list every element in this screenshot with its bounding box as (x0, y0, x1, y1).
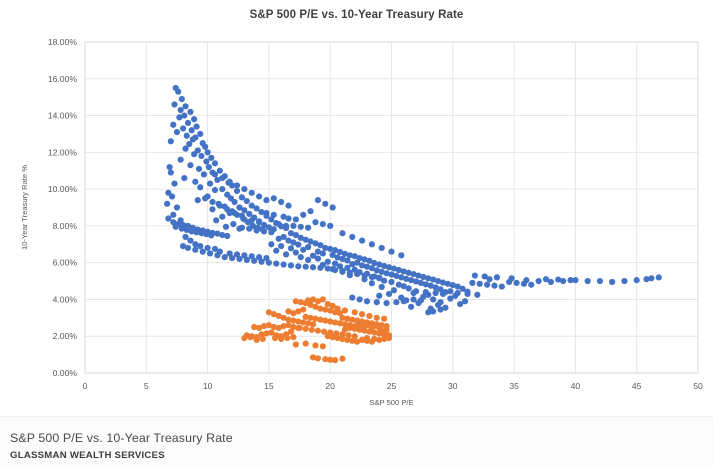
data-point (528, 282, 534, 288)
data-point (241, 186, 247, 192)
data-point (315, 328, 321, 334)
data-point (209, 206, 215, 212)
data-point (298, 224, 304, 230)
data-point (648, 275, 654, 281)
y-tick-label: 4.00% (53, 294, 78, 304)
data-point (185, 120, 191, 126)
data-point (223, 224, 229, 230)
data-point (165, 215, 171, 221)
data-point (408, 304, 414, 310)
data-point (222, 254, 228, 260)
data-point (536, 278, 542, 284)
data-point (179, 96, 185, 102)
data-point (195, 197, 201, 203)
data-point (366, 313, 372, 319)
data-point (499, 283, 505, 289)
data-point (379, 245, 385, 251)
data-point (332, 267, 338, 273)
data-point (359, 311, 365, 317)
data-point (254, 227, 260, 233)
data-point (187, 238, 193, 244)
data-point (494, 274, 500, 280)
data-point (202, 144, 208, 150)
data-point (303, 326, 309, 332)
data-point (246, 226, 252, 232)
data-point (406, 285, 412, 291)
data-point (230, 221, 236, 227)
data-point (388, 279, 394, 285)
x-tick-label: 35 (509, 381, 519, 391)
data-point (197, 131, 203, 137)
data-point (295, 242, 301, 248)
data-point (349, 234, 355, 240)
data-point (209, 199, 215, 205)
data-point (217, 168, 223, 174)
data-point (202, 195, 208, 201)
x-tick-label: 5 (144, 381, 149, 391)
data-point (384, 300, 390, 306)
x-tick-label: 20 (325, 381, 335, 391)
x-tick-label: 30 (448, 381, 458, 391)
data-point (298, 254, 304, 260)
data-point (374, 299, 380, 305)
caption-source: GLASSMAN WEALTH SERVICES (10, 450, 165, 461)
data-point (361, 272, 367, 278)
data-point (376, 275, 382, 281)
y-tick-label: 12.00% (48, 147, 78, 157)
data-point (303, 264, 309, 270)
data-point (293, 249, 299, 255)
data-point (171, 101, 177, 107)
data-point (212, 160, 218, 166)
data-point (239, 213, 245, 219)
data-point (263, 255, 269, 261)
y-tick-label: 14.00% (48, 111, 78, 121)
data-point (656, 274, 662, 280)
data-point (369, 274, 375, 280)
data-point (276, 221, 282, 227)
data-point (193, 123, 199, 129)
data-point (285, 215, 291, 221)
data-point (320, 343, 326, 349)
data-point (523, 277, 529, 283)
y-tick-label: 8.00% (53, 221, 78, 231)
data-point (178, 157, 184, 163)
data-point (359, 238, 365, 244)
data-point (205, 149, 211, 155)
data-point (168, 138, 174, 144)
data-point (418, 297, 424, 303)
data-point (369, 241, 375, 247)
data-point (168, 169, 174, 175)
data-point (244, 198, 250, 204)
data-point (386, 291, 392, 297)
data-point (206, 164, 212, 170)
data-point (203, 158, 209, 164)
data-point (212, 171, 218, 177)
data-point (384, 327, 390, 333)
data-point (256, 254, 262, 260)
data-point (180, 125, 186, 131)
data-point (283, 223, 289, 229)
data-point (170, 212, 176, 218)
data-point (169, 193, 175, 199)
data-point (260, 336, 266, 342)
scatter-plot: 0.00%2.00%4.00%6.00%8.00%10.00%12.00%14.… (0, 0, 713, 416)
data-point (410, 290, 416, 296)
data-point (256, 193, 262, 199)
data-point (437, 306, 443, 312)
data-point (234, 182, 240, 188)
data-point (430, 308, 436, 314)
data-point (205, 245, 211, 251)
data-point (305, 225, 311, 231)
data-point (219, 175, 225, 181)
data-point (369, 280, 375, 286)
data-point (349, 295, 355, 301)
data-point (455, 290, 461, 296)
data-point (464, 291, 470, 297)
data-point (263, 210, 269, 216)
data-point (369, 339, 375, 345)
data-point (182, 234, 188, 240)
data-point (320, 221, 326, 227)
data-point (182, 146, 188, 152)
x-tick-label: 40 (571, 381, 581, 391)
data-point (469, 280, 475, 286)
data-point (268, 229, 274, 235)
data-point (178, 107, 184, 113)
data-point (330, 303, 336, 309)
data-point (170, 122, 176, 128)
data-point (374, 315, 380, 321)
data-point (305, 297, 311, 303)
data-point (231, 199, 237, 205)
data-point (191, 151, 197, 157)
data-point (477, 281, 483, 287)
data-point (391, 287, 397, 293)
data-point (234, 251, 240, 257)
data-point (213, 217, 219, 223)
data-point (433, 290, 439, 296)
caption-title: S&P 500 P/E vs. 10-Year Treasury Rate (10, 431, 233, 445)
data-point (315, 197, 321, 203)
data-point (197, 184, 203, 190)
data-point (231, 210, 237, 216)
data-point (278, 336, 284, 342)
data-point (217, 203, 223, 209)
data-point (447, 288, 453, 294)
data-point (295, 325, 301, 331)
data-point (285, 308, 291, 314)
data-point (278, 243, 284, 249)
data-point (208, 232, 214, 238)
data-point (430, 296, 436, 302)
y-axis-title: 10-Year Treasury Rate % (20, 165, 29, 250)
data-point (376, 293, 382, 299)
data-point (276, 236, 282, 242)
x-axis-ticks: 05101520253035404550 (83, 381, 703, 391)
data-point (472, 272, 478, 278)
data-point (482, 273, 488, 279)
data-point (227, 250, 233, 256)
data-point (192, 247, 198, 253)
data-point (164, 201, 170, 207)
data-point (410, 296, 416, 302)
data-point (474, 292, 480, 298)
data-point (339, 269, 345, 275)
x-tick-label: 10 (203, 381, 213, 391)
data-point (513, 280, 519, 286)
data-point (330, 204, 336, 210)
data-point (284, 335, 290, 341)
data-point (201, 171, 207, 177)
y-tick-label: 0.00% (53, 368, 78, 378)
x-tick-label: 25 (387, 381, 397, 391)
data-point (364, 298, 370, 304)
data-point (621, 278, 627, 284)
data-point (339, 230, 345, 236)
data-point (171, 180, 177, 186)
caption-zone: S&P 500 P/E vs. 10-Year Treasury Rate GL… (0, 416, 713, 467)
data-point (207, 180, 213, 186)
data-point (212, 187, 218, 193)
data-point (344, 257, 350, 263)
figure-root: S&P 500 P/E vs. 10-Year Treasury Rate 0.… (0, 0, 713, 467)
data-point (312, 342, 318, 348)
data-point (189, 127, 195, 133)
data-point (423, 289, 429, 295)
data-point (303, 340, 309, 346)
data-point (285, 203, 291, 209)
data-point (241, 335, 247, 341)
data-point (585, 278, 591, 284)
data-point (317, 265, 323, 271)
data-point (173, 224, 179, 230)
y-tick-label: 2.00% (53, 331, 78, 341)
x-tick-label: 0 (83, 381, 88, 391)
data-point (261, 228, 267, 234)
data-point (268, 241, 274, 247)
data-point (312, 219, 318, 225)
data-point (320, 296, 326, 302)
data-point (310, 354, 316, 360)
data-point (354, 271, 360, 277)
y-tick-label: 10.00% (48, 184, 78, 194)
data-point (388, 249, 394, 255)
data-point (241, 252, 247, 258)
data-point (181, 175, 187, 181)
data-point (401, 298, 407, 304)
data-point (182, 103, 188, 109)
data-point (185, 245, 191, 251)
data-point (187, 162, 193, 168)
data-point (249, 253, 255, 259)
data-point (393, 299, 399, 305)
x-axis-title: S&P 500 P/E (369, 398, 413, 407)
data-point (256, 219, 262, 225)
data-point (320, 250, 326, 256)
data-point (349, 261, 355, 267)
data-point (184, 133, 190, 139)
data-point (634, 277, 640, 283)
data-point (187, 109, 193, 115)
data-point (197, 243, 203, 249)
data-point (234, 188, 240, 194)
data-point (174, 204, 180, 210)
data-point (207, 250, 213, 256)
x-tick-label: 15 (264, 381, 274, 391)
data-point (381, 316, 387, 322)
data-point (290, 223, 296, 229)
data-point (295, 263, 301, 269)
data-point (386, 335, 392, 341)
data-point (322, 201, 328, 207)
data-point (347, 270, 353, 276)
data-point (447, 295, 453, 301)
data-point (310, 264, 316, 270)
x-tick-label: 50 (693, 381, 703, 391)
data-point (278, 199, 284, 205)
data-point (288, 245, 294, 251)
data-point (307, 208, 313, 214)
data-point (543, 276, 549, 282)
data-point (379, 284, 385, 290)
data-point (227, 179, 233, 185)
data-point (224, 233, 230, 239)
data-point (191, 116, 197, 122)
data-point (300, 212, 306, 218)
data-point (198, 153, 204, 159)
data-point (254, 205, 260, 211)
data-point (309, 327, 315, 333)
data-point (327, 357, 333, 363)
data-point (219, 186, 225, 192)
data-point (254, 337, 260, 343)
data-point (484, 282, 490, 288)
data-point (175, 89, 181, 95)
data-point (241, 207, 247, 213)
data-point (166, 164, 172, 170)
data-point (325, 265, 331, 271)
data-point (281, 261, 287, 267)
y-tick-label: 16.00% (48, 74, 78, 84)
data-point (293, 216, 299, 222)
data-point (398, 252, 404, 258)
data-point (288, 262, 294, 268)
y-tick-label: 6.00% (53, 258, 78, 268)
data-point (208, 155, 214, 161)
data-point (609, 279, 615, 285)
data-point (249, 217, 255, 223)
data-point (283, 251, 289, 257)
data-point (176, 114, 182, 120)
data-point (567, 277, 573, 283)
data-point (249, 190, 255, 196)
data-point (293, 341, 299, 347)
data-point (290, 334, 296, 340)
data-point (239, 194, 245, 200)
data-point (342, 327, 348, 333)
data-point (597, 278, 603, 284)
data-point (217, 249, 223, 255)
y-tick-label: 18.00% (48, 37, 78, 47)
data-point (178, 217, 184, 223)
data-point (273, 260, 279, 266)
data-point (342, 307, 348, 313)
data-point (315, 256, 321, 262)
data-point (310, 321, 316, 327)
data-point (305, 257, 311, 263)
data-point (219, 214, 225, 220)
data-point (271, 195, 277, 201)
data-point (271, 212, 277, 218)
data-point (555, 276, 561, 282)
y-axis-ticks: 0.00%2.00%4.00%6.00%8.00%10.00%12.00%14.… (48, 37, 78, 378)
data-point (273, 248, 279, 254)
data-point (327, 223, 333, 229)
data-point (491, 283, 497, 289)
data-point (192, 179, 198, 185)
x-tick-label: 45 (632, 381, 642, 391)
data-point (239, 225, 245, 231)
data-point (263, 197, 269, 203)
data-point (352, 309, 358, 315)
data-point (224, 206, 230, 212)
data-point (509, 275, 515, 281)
data-point (457, 301, 463, 307)
data-point (272, 335, 278, 341)
data-point (174, 129, 180, 135)
data-point (200, 249, 206, 255)
data-point (339, 356, 345, 362)
data-point (196, 166, 202, 172)
data-point (357, 296, 363, 302)
data-point (246, 211, 252, 217)
data-point (247, 334, 253, 340)
chart-card: S&P 500 P/E vs. 10-Year Treasury Rate 0.… (0, 0, 713, 416)
data-point (300, 247, 306, 253)
data-point (440, 291, 446, 297)
